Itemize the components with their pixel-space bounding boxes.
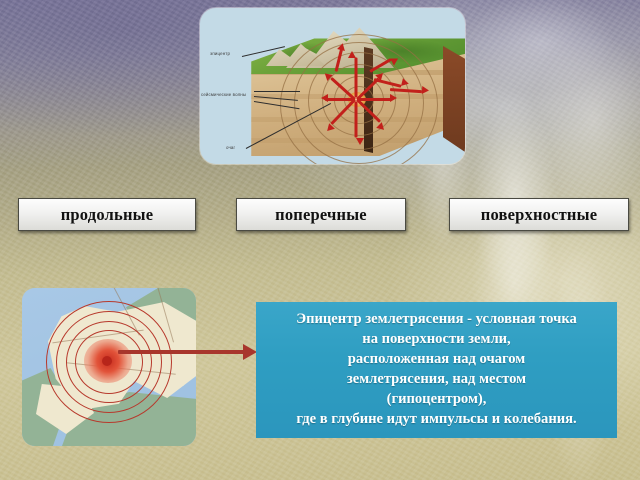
category-box-surface[interactable]: поверхностные bbox=[449, 198, 629, 231]
map-to-definition-arrow bbox=[118, 350, 246, 354]
block-side-wall bbox=[443, 46, 465, 152]
earthquake-cutaway-diagram: эпицентр сейсмические волны очаг bbox=[200, 8, 465, 164]
label-seismic-waves: сейсмические волны bbox=[201, 92, 246, 97]
wave-arrow bbox=[357, 98, 391, 101]
epicenter-center-dot bbox=[102, 356, 112, 366]
wave-arrow-head bbox=[390, 94, 397, 102]
wave-arrow-head bbox=[348, 51, 356, 58]
category-box-longitudinal[interactable]: продольные bbox=[18, 198, 196, 231]
surface-arrow-head bbox=[422, 86, 430, 94]
map-to-definition-arrow-head bbox=[243, 344, 257, 360]
definition-text: Эпицентр землетрясения - условная точкан… bbox=[290, 310, 583, 430]
wave-arrow-head bbox=[356, 138, 364, 145]
category-label: поверхностные bbox=[481, 205, 598, 225]
epicenter-location-map bbox=[22, 288, 196, 446]
slide-canvas: эпицентр сейсмические волны очаг продоль… bbox=[0, 0, 640, 480]
category-label: поперечные bbox=[275, 205, 367, 225]
category-box-transverse[interactable]: поперечные bbox=[236, 198, 406, 231]
seismic-waves-leader-line bbox=[254, 91, 300, 92]
wave-arrow-head bbox=[321, 94, 328, 102]
wave-arrow bbox=[355, 58, 358, 98]
wave-arrow bbox=[355, 102, 358, 138]
label-epicenter: эпицентр bbox=[210, 51, 230, 56]
label-focus: очаг bbox=[226, 145, 235, 150]
category-label: продольные bbox=[61, 205, 154, 225]
definition-textbox: Эпицентр землетрясения - условная точкан… bbox=[256, 302, 617, 438]
